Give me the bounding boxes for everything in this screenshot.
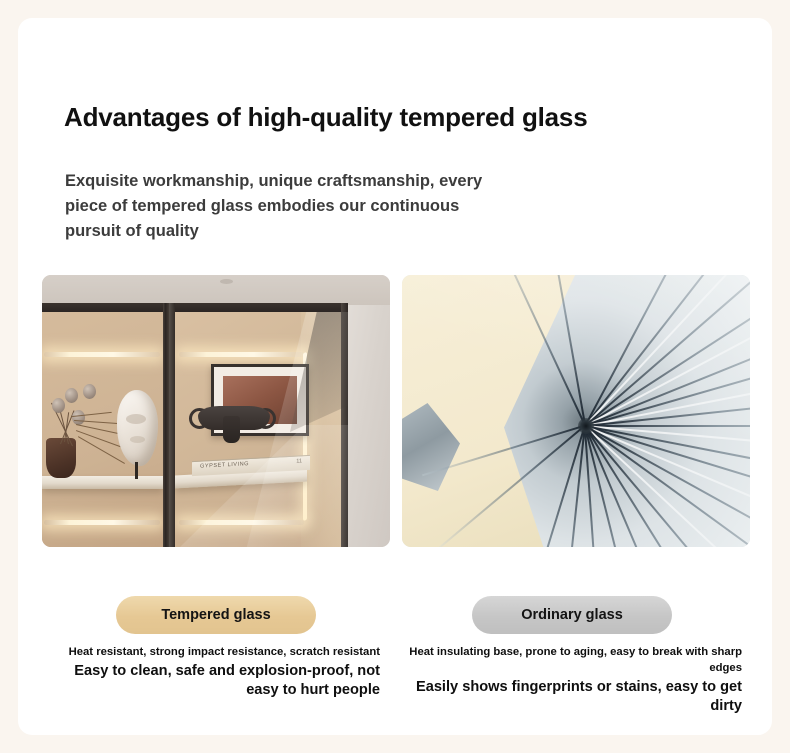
- content-card: Advantages of high-quality tempered glas…: [18, 18, 772, 735]
- led-strip-top: [44, 352, 160, 357]
- label-pills: Tempered glass Ordinary glass: [42, 596, 750, 634]
- door-mullion: [169, 303, 175, 547]
- ordinary-glass-photo: [402, 275, 750, 547]
- tempered-caption-small: Heat resistant, strong impact resistance…: [42, 644, 380, 660]
- comparison-photos: GYPSET LIVING 11: [42, 275, 750, 547]
- page-subtitle: Exquisite workmanship, unique craftsmans…: [65, 169, 495, 244]
- ordinary-caption-large: Easily shows fingerprints or stains, eas…: [404, 678, 742, 716]
- led-strip-top: [179, 352, 304, 357]
- tempered-glass-pill[interactable]: Tempered glass: [116, 596, 316, 634]
- dried-pod: [72, 410, 85, 425]
- tempered-caption-large: Easy to clean, safe and explosion-proof,…: [42, 662, 380, 700]
- book-number-text: 11: [296, 458, 302, 464]
- book-title-text: GYPSET LIVING: [200, 461, 249, 470]
- glass-gloss: [402, 275, 750, 547]
- dried-pod: [52, 398, 65, 413]
- ordinary-glass-pill[interactable]: Ordinary glass: [472, 596, 672, 634]
- sculpture-stand: [135, 462, 138, 479]
- ordinary-glass-caption: Heat insulating base, prone to aging, ea…: [404, 644, 750, 716]
- ceiling-light-icon: [220, 279, 233, 284]
- plaster-face-sculpture: [117, 390, 158, 466]
- led-strip-bottom: [44, 520, 160, 525]
- ceiling: [42, 275, 390, 305]
- dried-pod: [83, 384, 96, 399]
- ordinary-caption-small: Heat insulating base, prone to aging, ea…: [404, 644, 742, 676]
- tempered-glass-photo: GYPSET LIVING 11: [42, 275, 390, 547]
- vessel-stem: [223, 416, 240, 443]
- cabinet-bay-left: [42, 312, 163, 547]
- comparison-captions: Heat resistant, strong impact resistance…: [42, 644, 750, 716]
- dried-pod: [65, 388, 78, 403]
- cabinet-top-frame: [42, 303, 347, 312]
- tempered-glass-caption: Heat resistant, strong impact resistance…: [42, 644, 390, 716]
- page-title: Advantages of high-quality tempered glas…: [64, 102, 587, 133]
- led-strip-bottom: [179, 520, 304, 525]
